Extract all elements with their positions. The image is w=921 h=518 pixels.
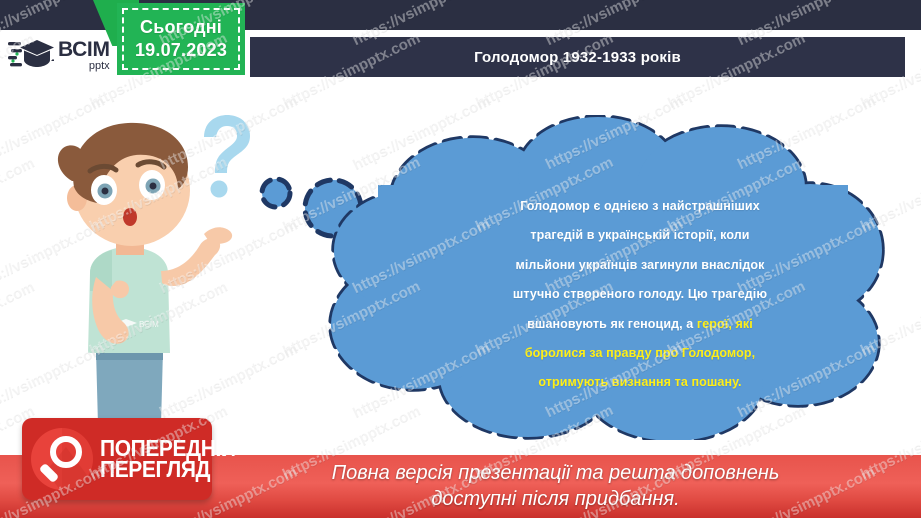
svg-text:ВСІМ: ВСІМ [139,320,159,329]
boy-right-arm [161,238,220,286]
bubble-line-mixed: вшановують як геноцид, а герої, які [480,310,800,339]
bubble-line: трагедій в українській історії, коли [480,221,800,250]
page-title: Голодомор 1932-1933 років [474,49,681,66]
logo-text: ВСІМ pptx [58,39,110,72]
preview-badge-line-2: ПЕРЕГЛЯД [100,458,236,482]
thought-dot-small [262,179,290,207]
graduation-cap-icon [8,35,54,75]
logo-title: ВСІМ [58,39,110,60]
bubble-text-block: Голодомор є однією з найстрашніших траге… [480,192,800,398]
boy-jeans [96,350,163,425]
brand-logo: ВСІМ pptx [8,28,118,82]
bubble-line: мільйони українців загинули внаслідок [480,251,800,280]
banner-text: Повна версія презентації та решта доповн… [332,461,780,512]
preview-badge-text: ПОПЕРЕДНІЙ ПЕРЕГЛЯД [100,438,236,481]
today-date-badge: Сьогодні 19.07.2023 [117,3,245,75]
preview-badge: ПОПЕРЕДНІЙ ПЕРЕГЛЯД [22,418,212,500]
date-badge-value: 19.07.2023 [135,40,227,61]
bubble-line-plain: вшановують як геноцид, а [527,317,697,331]
banner-line-1: Повна версія презентації та решта доповн… [332,461,780,487]
bubble-line-highlight: герої, які [697,317,753,331]
boy-illustration: ВСІМ [28,95,258,425]
bubble-line: Голодомор є однією з найстрашніших [480,192,800,221]
banner-line-2: доступні після придбання. [332,487,780,513]
bubble-line: боролися за правду про Голодомор, [480,339,800,368]
bubble-line: штучно створеного голоду. Цю трагедію [480,280,800,309]
magnifier-icon [30,427,94,491]
date-badge-label: Сьогодні [140,17,222,38]
slide-title-bar: Голодомор 1932-1933 років [250,37,905,77]
presentation-slide: ВСІМ pptx Сьогодні 19.07.2023 Голодомор … [0,0,921,518]
logo-subtitle: pptx [58,61,110,72]
bubble-line: отримують визнання та пошану. [480,368,800,397]
